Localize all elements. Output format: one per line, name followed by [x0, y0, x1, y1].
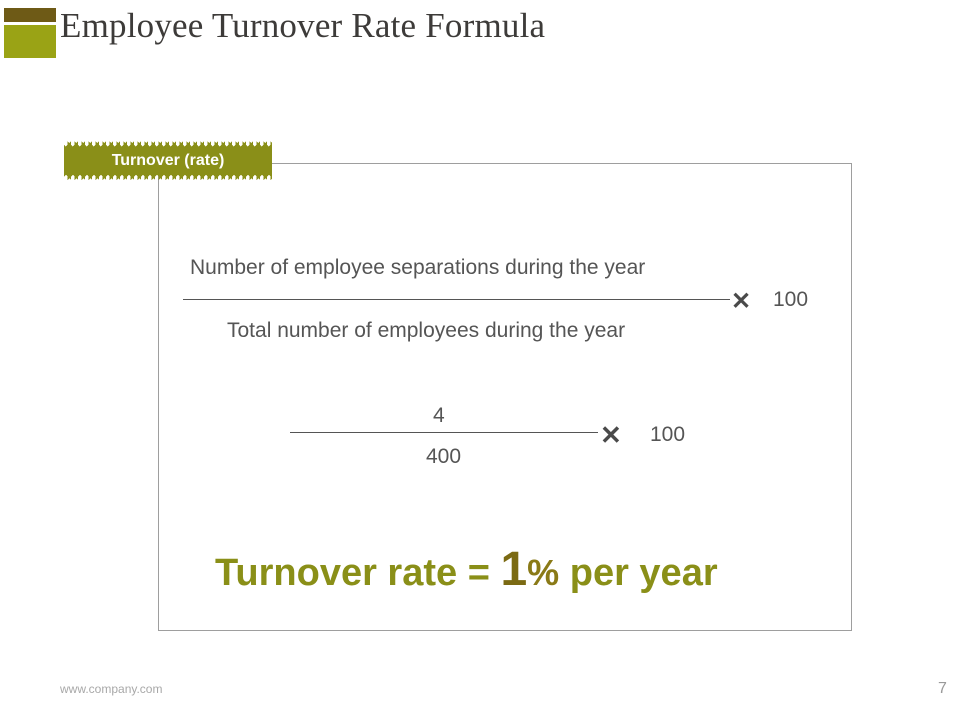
- result-percent-symbol: %: [527, 552, 559, 593]
- formula-general-multiplier: 100: [773, 288, 808, 312]
- result-statement: Turnover rate = 1% per year: [215, 546, 718, 595]
- slide-header: Employee Turnover Rate Formula: [0, 0, 960, 62]
- result-value: 1: [500, 543, 527, 596]
- formula-numeric-multiplier: 100: [650, 423, 685, 447]
- formula-numeric-fraction-bar: [290, 432, 598, 433]
- formula-general-denominator: Total number of employees during the yea…: [227, 319, 625, 343]
- footer-page-number: 7: [938, 680, 947, 698]
- section-badge-label: Turnover (rate): [64, 147, 272, 174]
- logo-top-bar: [4, 8, 56, 22]
- section-badge: Turnover (rate): [64, 141, 272, 180]
- badge-zigzag-bottom-icon: [64, 173, 272, 180]
- result-prefix: Turnover rate =: [215, 552, 500, 594]
- logo-bottom-block: [4, 25, 56, 58]
- formula-numeric-numerator: 4: [433, 404, 445, 428]
- formula-general-numerator: Number of employee separations during th…: [190, 256, 645, 280]
- formula-general-fraction-bar: [183, 299, 730, 300]
- logo-mark: [4, 8, 56, 56]
- page-title: Employee Turnover Rate Formula: [60, 6, 545, 46]
- multiply-icon: ✕: [600, 420, 622, 451]
- formula-numeric-denominator: 400: [426, 445, 461, 469]
- footer-url: www.company.com: [60, 682, 162, 696]
- multiply-icon: ✕: [731, 287, 751, 316]
- result-suffix: per year: [559, 552, 717, 594]
